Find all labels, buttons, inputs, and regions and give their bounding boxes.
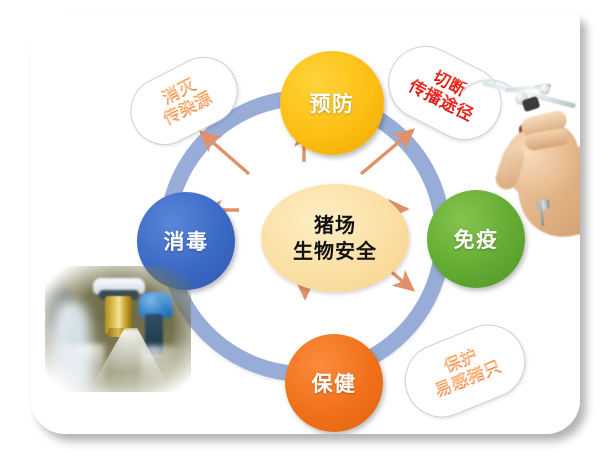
content-card: 猪场 生物安全 预防 消毒 免疫 保健 消灭 传染源 切断 [31,14,580,434]
node-disinfection-label: 消毒 [164,226,209,256]
node-healthcare[interactable]: 保健 [285,334,383,432]
center-hub[interactable]: 猪场 生物安全 [261,184,409,292]
syringe-knob-secondary [539,84,550,95]
spray-nozzle-photo [45,266,191,392]
vaccination-syringe-photo [461,74,580,242]
content-card-inner: 猪场 生物安全 预防 消毒 免疫 保健 消灭 传染源 切断 [31,14,580,434]
center-hub-line-1: 猪场 [314,214,356,237]
diagram-canvas: 猪场 生物安全 预防 消毒 免疫 保健 消灭 传染源 切断 [0,0,614,452]
node-prevention-label: 预防 [310,88,355,118]
spray-mist-left [51,344,105,392]
node-healthcare-label: 保健 [312,368,357,398]
spray-mist-right [141,346,191,392]
node-prevention[interactable]: 预防 [280,51,384,155]
center-hub-line-2: 生物安全 [293,240,377,263]
